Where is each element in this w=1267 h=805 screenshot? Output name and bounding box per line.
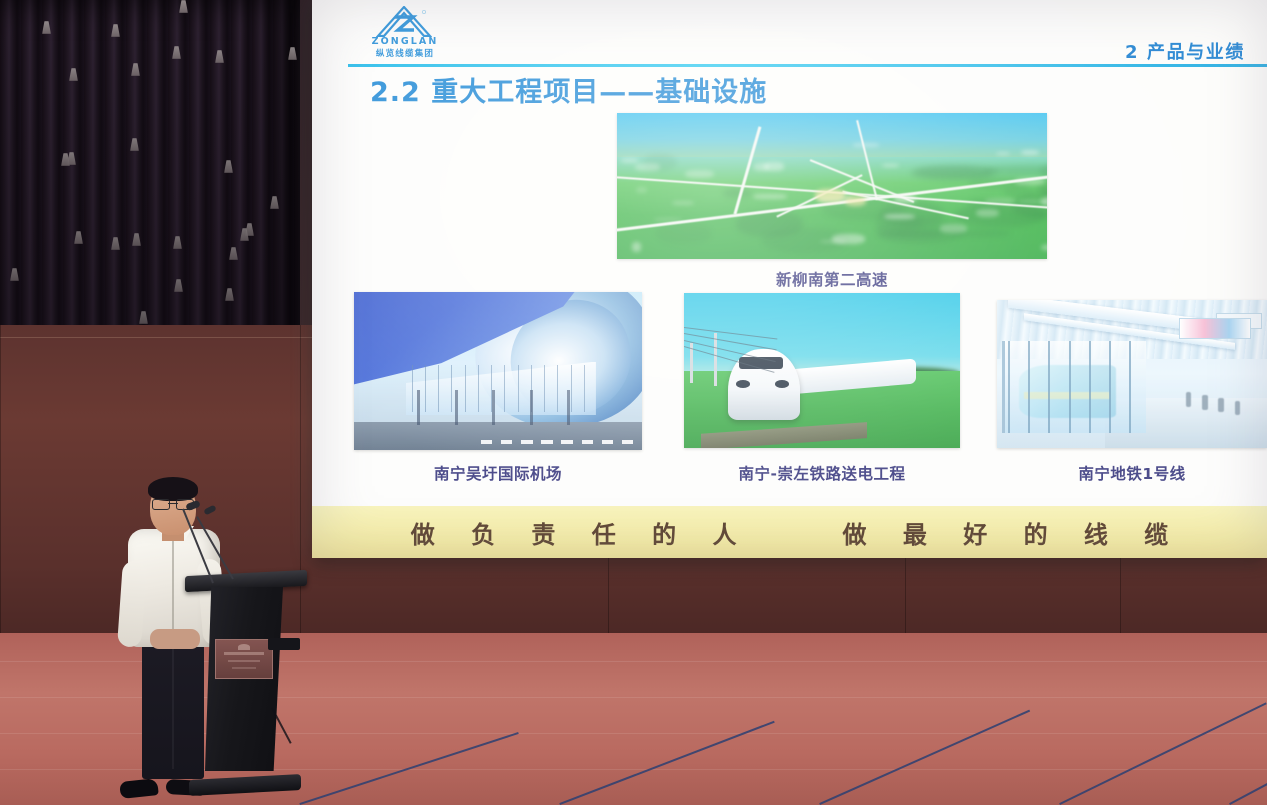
village-patch [820, 240, 845, 243]
caption-metro: 南宁地铁1号线 [997, 462, 1267, 484]
facade-mullion [412, 365, 413, 412]
shoe-left [119, 778, 159, 799]
wall-cone-accent [240, 228, 249, 241]
support-column [455, 390, 458, 425]
village-patch [882, 164, 898, 167]
support-column [417, 390, 420, 425]
stage-cable [819, 710, 1030, 805]
village-patch [1041, 244, 1047, 252]
facade-mullion [504, 365, 505, 412]
wall-cone-accent [111, 237, 120, 250]
door-mullion [1089, 341, 1091, 433]
wall-cone-accent [42, 21, 51, 34]
presentation-slide: ZONGLAN 纵览线缆集团 2 产品与业绩 2.2 重大工程项目——基础设施 … [312, 0, 1267, 558]
hands [150, 629, 200, 649]
crosswalk-stripe [582, 440, 594, 444]
support-column [530, 390, 533, 425]
logo-chinese-text: 纵览线缆集团 [362, 47, 448, 59]
passenger [1218, 398, 1223, 413]
door-mullion [1109, 341, 1111, 433]
village-patch [635, 163, 661, 171]
stage-cable [1059, 702, 1267, 805]
village-patch [884, 214, 915, 219]
caption-airport: 南宁吴圩国际机场 [354, 462, 642, 484]
zonglan-triangle-z-logo [376, 6, 432, 37]
support-column [567, 390, 570, 425]
crosswalk-stripe [481, 440, 493, 444]
door-mullion [1008, 341, 1010, 433]
wall-cone-accent [132, 233, 141, 246]
hill-shadow [1004, 186, 1036, 198]
slogan-banner: 做 负 责 任 的 人 做 最 好 的 线 缆 [312, 506, 1267, 558]
wall-cone-accent [215, 50, 224, 63]
wall-cone-accent [288, 47, 297, 60]
sky [617, 113, 1047, 157]
village-patch [621, 158, 638, 163]
village-patch [764, 162, 784, 171]
wall-cone-accent [229, 247, 238, 260]
village-patch [672, 201, 694, 205]
conference-room-photo: ZONGLAN 纵览线缆集团 2 产品与业绩 2.2 重大工程项目——基础设施 … [0, 0, 1267, 805]
slide-title: 2.2 重大工程项目——基础设施 [370, 70, 767, 109]
wall-cone-accent [224, 160, 233, 173]
wall-cone-accent [67, 152, 76, 165]
village-patch [685, 170, 714, 178]
wall-cone-accent [139, 311, 148, 324]
slogan-right: 做 最 好 的 线 缆 [829, 515, 1183, 550]
village-patch [940, 224, 967, 233]
headlight-left [736, 380, 750, 388]
door-mullion [1129, 341, 1131, 433]
apron-pavement [354, 422, 642, 450]
advertisement-panel [1179, 318, 1251, 339]
lectern-body [205, 587, 283, 771]
platform-screen-doors [1002, 341, 1145, 433]
catenary-pole [714, 333, 717, 386]
facade-mullion [465, 365, 466, 412]
door-mullion [1028, 341, 1030, 433]
floor-monitor-speaker [268, 638, 300, 650]
facade-mullion [478, 365, 479, 412]
facade-mullion [571, 365, 572, 412]
facade-mullion [544, 365, 545, 412]
wall-cone-accent [245, 223, 254, 236]
wall-cone-accent [270, 196, 279, 209]
header-divider [348, 64, 1267, 67]
village-patch [632, 242, 641, 251]
aerial-highway-interchange-photo [617, 113, 1047, 259]
passenger [1186, 392, 1191, 407]
wall-cone-accent [74, 231, 83, 244]
facade-mullion [425, 365, 426, 412]
crosswalk-stripe [622, 440, 634, 444]
crosswalk-stripe [602, 440, 614, 444]
company-logo: ZONGLAN 纵览线缆集团 [362, 5, 448, 61]
hero-caption: 新柳南第二高速 [617, 268, 1047, 290]
crosswalk-stripe [541, 440, 553, 444]
wall-cone-accent [111, 24, 120, 37]
wall-cone-accent [130, 138, 139, 151]
nanning-airport-terminal-photo [354, 292, 642, 450]
wall-cone-accent [174, 279, 183, 292]
figure-airport [354, 292, 642, 450]
projection-screen: ZONGLAN 纵览线缆集团 2 产品与业绩 2.2 重大工程项目——基础设施 … [312, 0, 1267, 558]
headlight-right [775, 380, 789, 388]
facade-mullion [438, 365, 439, 412]
village-patch [976, 209, 999, 218]
figure-metro [997, 300, 1267, 448]
crosswalk-stripe [561, 440, 573, 444]
wall-cone-accent [225, 288, 234, 301]
wall-cone-accent [10, 268, 19, 281]
lectern [197, 573, 295, 793]
crosswalk-stripe [501, 440, 513, 444]
metro-platform-photo [997, 300, 1267, 448]
support-column [492, 390, 495, 425]
wall-cone-accent [131, 63, 140, 76]
wall-cone-accent [172, 46, 181, 59]
logo-english-text: ZONGLAN [362, 36, 448, 47]
caption-train: 南宁-崇左铁路送电工程 [672, 462, 972, 484]
lectern-plaque [215, 639, 273, 679]
village-patch [853, 143, 880, 147]
slogan-left: 做 负 责 任 的 人 [397, 515, 751, 550]
wall-seam [300, 325, 301, 645]
figure-train [684, 293, 960, 448]
passenger [1235, 401, 1240, 416]
hill-shadow [984, 165, 1047, 175]
wall-cone-accent [61, 153, 70, 166]
interchange-island [815, 189, 845, 202]
wall-seam [0, 325, 1, 645]
passenger [1202, 395, 1207, 410]
high-speed-train-photo [684, 293, 960, 448]
sky [684, 293, 960, 374]
facade-mullion [518, 365, 519, 412]
door-mullion [1048, 341, 1050, 433]
hero-figure [617, 113, 1047, 259]
facade-mullion [557, 365, 558, 412]
hair [148, 477, 198, 501]
village-patch [636, 187, 647, 194]
facade-mullion [451, 365, 452, 412]
wall-cone-accent [173, 236, 182, 249]
door-mullion [1069, 341, 1071, 433]
interchange-island-2 [845, 196, 867, 206]
village-patch [753, 194, 787, 199]
facade-mullion [584, 365, 585, 412]
lectern-base [189, 774, 301, 796]
wall-cone-accent [69, 68, 78, 81]
wall-cone-accent [179, 0, 188, 13]
section-label: 2 产品与业绩 [1125, 38, 1245, 64]
crosswalk-stripe [521, 440, 533, 444]
